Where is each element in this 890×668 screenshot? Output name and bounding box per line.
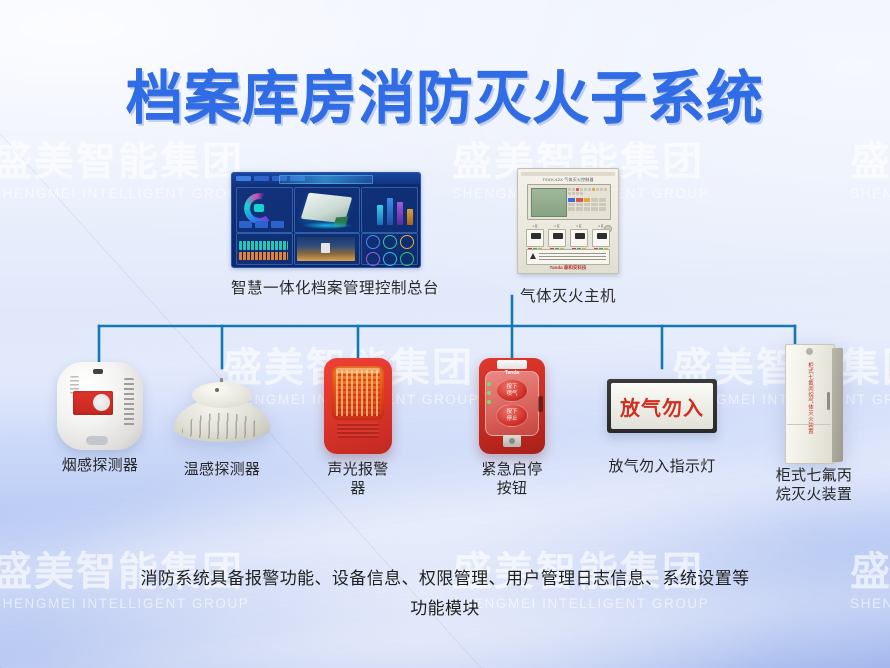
sign-text: 放气勿入 <box>620 392 704 421</box>
device-label-line2: 烷灭火装置 <box>766 485 862 504</box>
device-cabinet-extinguisher[interactable]: 柜式七氟丙烷气体灭火装置 柜式七氟丙 烷灭火装置 <box>766 344 862 504</box>
gas-host-card[interactable]: TSXH-42X 气体灭火控制器 1 区 <box>517 168 619 306</box>
emergency-start-stop-button-icon: Tanda 按下喷气 按下停止 <box>479 358 545 454</box>
gas-host-label: 气体灭火主机 <box>517 284 619 306</box>
gas-warning-sign-icon: 放气勿入 <box>607 379 717 433</box>
heat-detector-icon <box>174 378 270 442</box>
panel-zone[interactable]: 1 区 <box>526 224 544 251</box>
panel-zone[interactable]: 3 区 <box>570 224 588 251</box>
page-title: 档案库房消防灭火子系统 <box>0 52 890 134</box>
device-label: 温感探测器 <box>174 460 270 479</box>
panel-warning-label <box>526 249 610 265</box>
device-sounder-strobe[interactable]: 声光报警器 <box>324 358 392 498</box>
estop-keyswitch[interactable] <box>503 435 521 447</box>
poster-stage: 盛美智能集团 SHENGMEI INTELLIGENT GROUP 盛美智能集团… <box>0 0 890 668</box>
top-tier: 智慧一体化档案管理控制总台 TSXH-42X 气体灭火控制器 <box>0 168 890 298</box>
device-smoke-detector[interactable]: 烟感探测器 <box>56 362 144 475</box>
dashboard-3d-device-icon <box>301 193 353 224</box>
cabinet-extinguisher-icon: 柜式七氟丙烷气体灭火装置 <box>785 344 843 462</box>
dashboard-video-thumb <box>297 237 355 261</box>
panel-zones: 1 区 2 区 3 区 4 区 <box>526 224 610 251</box>
panel-model-text: TSXH-42X 气体灭火控制器 <box>518 177 618 183</box>
device-emergency-button[interactable]: Tanda 按下喷气 按下停止 紧急启停按钮 <box>479 358 545 498</box>
dashboard-screen-icon <box>231 172 421 268</box>
sounder-strobe-icon <box>324 358 392 454</box>
dashboard-topbar <box>232 173 420 184</box>
device-label: 烟感探测器 <box>56 456 144 475</box>
panel-zone[interactable]: 4 区 <box>592 224 610 251</box>
estop-release-button[interactable]: 按下喷气 <box>496 379 528 402</box>
device-label: 放气勿入指示灯 <box>607 457 717 476</box>
dashboard-icon-grid <box>366 235 414 266</box>
footer-line-2: 功能模块 <box>0 594 890 624</box>
footer-caption: 消防系统具备报警功能、设备信息、权限管理、用户管理日志信息、系统设置等 功能模块 <box>0 564 890 624</box>
device-gas-warning-light[interactable]: 放气勿入 放气勿入指示灯 <box>607 379 717 476</box>
device-row: 烟感探测器 温感探测器 声光报警器 Tanda 按下喷气 按下停止 <box>0 352 890 512</box>
footer-line-1: 消防系统具备报警功能、设备信息、权限管理、用户管理日志信息、系统设置等 <box>0 564 890 594</box>
device-label: 紧急启停按钮 <box>479 460 545 498</box>
panel-brand: Tanda 泰和安科技 <box>518 265 618 271</box>
device-label: 柜式七氟丙 <box>766 466 862 485</box>
smoke-detector-icon <box>57 362 143 450</box>
console-label: 智慧一体化档案管理控制总台 <box>231 276 439 298</box>
estop-stop-button[interactable]: 按下停止 <box>496 404 528 427</box>
console-card[interactable]: 智慧一体化档案管理控制总台 <box>231 172 439 298</box>
dashboard-bar-chart <box>377 195 413 225</box>
device-label: 声光报警器 <box>324 460 392 498</box>
panel-zone[interactable]: 2 区 <box>548 224 566 251</box>
device-heat-detector[interactable]: 温感探测器 <box>174 378 270 479</box>
fire-control-panel-icon: TSXH-42X 气体灭火控制器 1 区 <box>517 168 619 274</box>
